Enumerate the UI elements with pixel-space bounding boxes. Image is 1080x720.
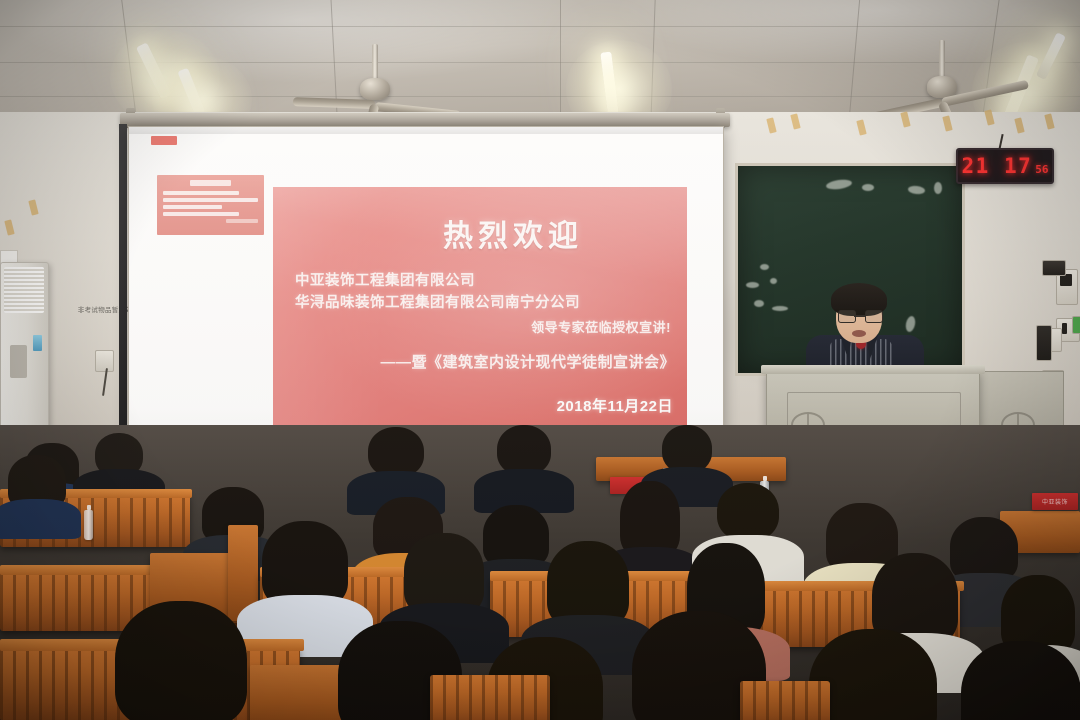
screen-frame-edge (119, 124, 127, 446)
slide-subtitle-line: 领导专家莅临授权宣讲! (531, 317, 671, 336)
slide-company-line-1: 中亚装饰工程集团有限公司 (295, 269, 475, 290)
info-card-line (226, 219, 258, 223)
table-nameplate: 中亚装饰 (1032, 493, 1078, 510)
digital-clock-icon: 21 17 56 (956, 148, 1054, 184)
water-bottle (84, 510, 93, 540)
slide-company-line-2: 华浔品味装饰工程集团有限公司南宁分公司 (295, 291, 580, 312)
seat-back[interactable] (740, 681, 830, 720)
info-card-line (163, 212, 239, 216)
audience-member (0, 455, 74, 521)
slide-content-panel: 热烈欢迎 中亚装饰工程集团有限公司 华浔品味装饰工程集团有限公司南宁分公司 领导… (273, 187, 687, 445)
tape-mark (790, 113, 800, 129)
tape-mark (1044, 113, 1054, 129)
tape-mark (766, 117, 776, 133)
wall-sensor (1042, 260, 1066, 276)
ceiling-seam (0, 26, 1080, 27)
ceiling-fan-icon (860, 40, 1030, 112)
slide-event-title: ——暨《建筑室内设计现代学徒制宣讲会》 (380, 351, 675, 372)
tape-mark (900, 111, 910, 127)
slide-text-group: 热烈欢迎 中亚装饰工程集团有限公司 华浔品味装饰工程集团有限公司南宁分公司 领导… (273, 187, 687, 445)
fan-blade (293, 97, 375, 109)
ceiling (0, 0, 1080, 118)
clock-seconds: 56 (1035, 163, 1048, 176)
seat-back[interactable] (430, 675, 550, 720)
tape-mark (856, 119, 866, 135)
ac-grill (4, 267, 44, 313)
lecture-hall-photo: 21 17 56 非考试物品暂放处 (0, 0, 1080, 720)
glasses-icon (838, 310, 881, 321)
clock-time: 21 17 (962, 154, 1033, 178)
tape-mark (4, 219, 14, 235)
audience-area: 中亚装饰 (0, 425, 1080, 720)
podium-top-surface (761, 365, 985, 374)
audience-member (356, 427, 436, 503)
projector-screen-icon: 热烈欢迎 中亚装饰工程集团有限公司 华浔品味装饰工程集团有限公司南宁分公司 领导… (128, 126, 724, 446)
audience-member-foreground (946, 641, 1080, 720)
presenter (800, 277, 930, 377)
presentation-ribbon (129, 127, 723, 134)
socket-slot (1062, 323, 1067, 334)
tape-mark (942, 115, 952, 131)
slide-date: 2018年11月22日 (557, 395, 673, 416)
ceiling-fan-icon (300, 44, 450, 114)
ac-panel (10, 345, 27, 378)
wall-outlet[interactable] (95, 350, 114, 372)
info-card-line (163, 205, 222, 209)
info-card-title-bar (190, 180, 232, 186)
slide-headline: 热烈欢迎 (273, 211, 663, 255)
presenter-mouth (852, 330, 866, 337)
indicator-light (1072, 316, 1080, 334)
slide-corner-chip (151, 136, 177, 145)
ceiling-panel-joint (560, 0, 561, 118)
tape-mark (28, 199, 38, 215)
info-card-line (163, 191, 239, 195)
projector-screen-housing (120, 113, 730, 127)
ac-display[interactable] (33, 335, 42, 351)
wall-conduit (1036, 325, 1052, 361)
slide-info-card (157, 175, 264, 235)
tape-mark (1014, 117, 1024, 133)
tape-mark (984, 109, 994, 125)
projected-desktop: 热烈欢迎 中亚装饰工程集团有限公司 华浔品味装饰工程集团有限公司南宁分公司 领导… (129, 127, 723, 445)
audience-member-foreground (96, 601, 266, 720)
info-card-line (163, 198, 258, 202)
audience-member (482, 425, 566, 503)
